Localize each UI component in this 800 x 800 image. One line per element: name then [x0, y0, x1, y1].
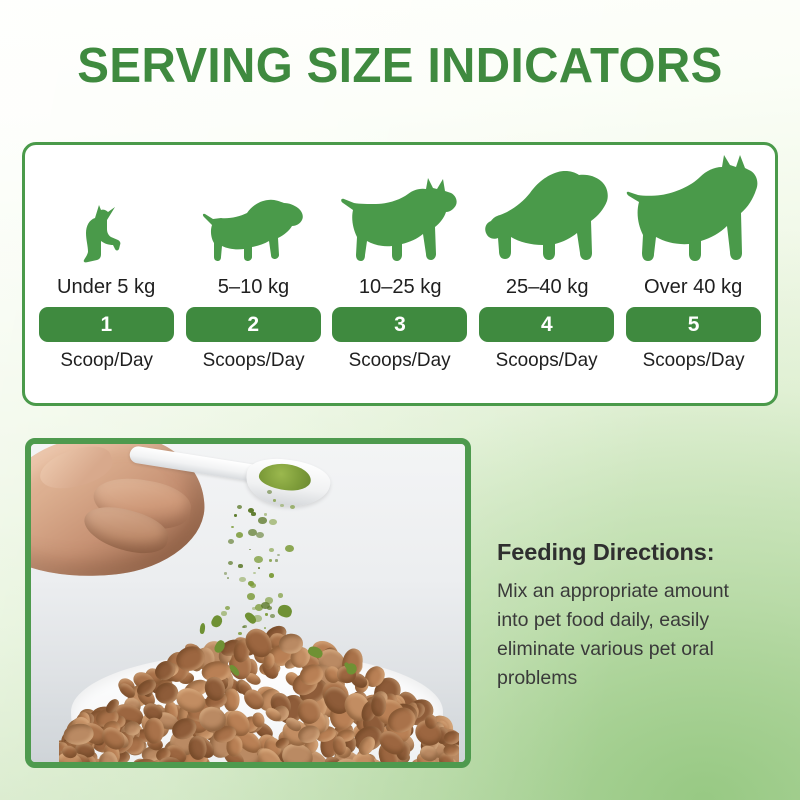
- scoop-count-badge: 5: [626, 307, 761, 342]
- scoop-unit-label: Scoop/Day: [60, 350, 153, 371]
- serving-column-4: 25–40 kg 4 Scoops/Day: [473, 155, 620, 393]
- serving-column-3: 10–25 kg 3 Scoops/Day: [327, 155, 474, 393]
- scoop-count-badge: 4: [479, 307, 614, 342]
- weight-label: 25–40 kg: [505, 276, 588, 298]
- scoop-count-badge: 2: [186, 307, 321, 342]
- scoop-unit-label: Scoops/Day: [202, 350, 304, 371]
- large-dog-icon: [477, 155, 616, 265]
- feeding-directions-body: Mix an appropriate amount into pet food …: [497, 577, 759, 693]
- feeding-directions-heading: Feeding Directions:: [497, 538, 782, 566]
- serving-size-columns: Under 5 kg 1 Scoop/Day 5–10 kg 2 Scoops/…: [25, 145, 775, 403]
- medium-dog-icon: [331, 155, 470, 265]
- serving-size-card: Under 5 kg 1 Scoop/Day 5–10 kg 2 Scoops/…: [22, 142, 778, 406]
- weight-label: Over 40 kg: [644, 276, 742, 298]
- serving-column-5: Over 40 kg 5 Scoops/Day: [620, 155, 767, 393]
- product-usage-photo: [25, 438, 471, 768]
- weight-label: Under 5 kg: [57, 276, 155, 298]
- brown-kibble-pile: [59, 594, 459, 762]
- scoop-count-badge: 1: [39, 307, 174, 342]
- weight-label: 5–10 kg: [217, 276, 288, 298]
- page-title: SERVING SIZE INDICATORS: [12, 38, 788, 94]
- photo-inner: [31, 444, 465, 762]
- scoop-unit-label: Scoops/Day: [349, 350, 451, 371]
- serving-column-1: Under 5 kg 1 Scoop/Day: [33, 155, 180, 393]
- weight-label: 10–25 kg: [359, 276, 442, 298]
- giant-dog-icon: [624, 155, 763, 265]
- scoop-unit-label: Scoops/Day: [496, 350, 598, 371]
- feeding-directions-block: Feeding Directions: Mix an appropriate a…: [497, 538, 782, 693]
- small-dog-icon: [184, 155, 323, 265]
- toy-dog-sitting-icon: [37, 155, 176, 265]
- scoop-count-badge: 3: [332, 307, 467, 342]
- scoop-unit-label: Scoops/Day: [643, 350, 745, 371]
- serving-column-2: 5–10 kg 2 Scoops/Day: [180, 155, 327, 393]
